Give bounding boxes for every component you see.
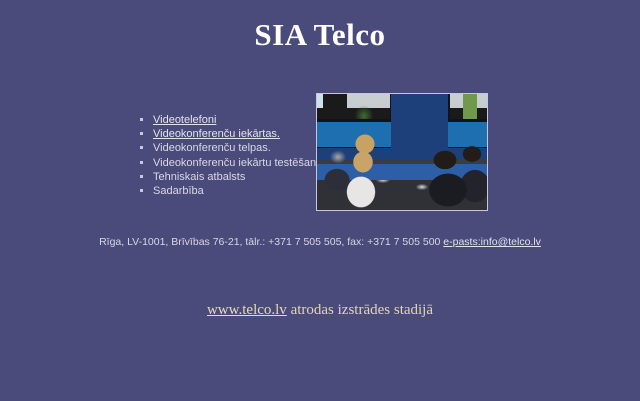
services-list: Videotelefoni Videokonferenču iekārtas. …: [139, 113, 322, 198]
list-item: Videokonferenču iekārtu testēšana: [153, 156, 322, 170]
email-link[interactable]: e-pasts:info@telco.lv: [443, 236, 541, 248]
contact-address: Rīga, LV-1001, Brīvības 76-21, tālr.: +3…: [99, 236, 443, 248]
list-item: Tehniskais atbalsts: [153, 170, 322, 184]
conference-room-photo-image: [317, 94, 487, 210]
service-label-sadarbiba: Sadarbība: [153, 185, 204, 197]
service-link-videokonferencu-iekartas[interactable]: Videokonferenču iekārtas.: [153, 128, 280, 140]
footer-note: www.telco.lv atrodas izstrādes stadijā: [0, 302, 640, 319]
list-item[interactable]: Videokonferenču iekārtas.: [153, 127, 322, 141]
contact-line: Rīga, LV-1001, Brīvības 76-21, tālr.: +3…: [0, 236, 640, 248]
service-label-iekartu-testesana: Videokonferenču iekārtu testēšana: [153, 157, 322, 169]
list-item[interactable]: Videotelefoni: [153, 113, 322, 127]
service-label-tehniskais-atbalsts: Tehniskais atbalsts: [153, 171, 245, 183]
service-link-videotelefoni[interactable]: Videotelefoni: [153, 114, 216, 126]
conference-room-photo: [316, 93, 488, 211]
service-label-videokonferencu-telpas: Videokonferenču telpas.: [153, 142, 271, 154]
page-title: SIA Telco: [0, 17, 640, 53]
list-item: Videokonferenču telpas.: [153, 141, 322, 155]
list-item: Sadarbība: [153, 184, 322, 198]
footer-note-text: atrodas izstrādes stadijā: [287, 302, 433, 318]
page-root: SIA Telco Videotelefoni Videokonferenču …: [0, 0, 640, 401]
website-link[interactable]: www.telco.lv: [207, 302, 287, 318]
